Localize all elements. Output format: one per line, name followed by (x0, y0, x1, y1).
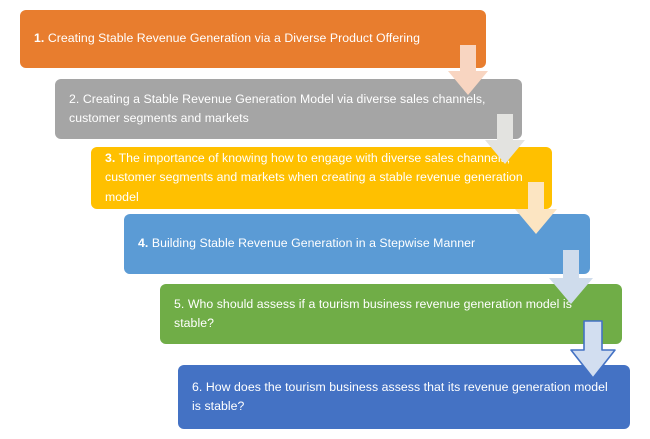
step-box-6[interactable]: 6. How does the tourism business assess … (178, 365, 630, 429)
step-box-6-label: How does the tourism business assess tha… (192, 380, 608, 413)
step-box-4-number: 4. (138, 236, 148, 250)
arrow-step3-to-step4-icon (515, 182, 557, 237)
arrow-step2-to-step3-icon (485, 114, 525, 167)
step-box-5-number: 5. (174, 297, 184, 311)
step-box-1-number: 1. (34, 31, 44, 45)
step-box-2-label: Creating a Stable Revenue Generation Mod… (69, 92, 486, 125)
diagram-canvas: 1. Creating Stable Revenue Generation vi… (0, 0, 650, 439)
step-box-6-number: 6. (192, 380, 202, 394)
step-box-1[interactable]: 1. Creating Stable Revenue Generation vi… (20, 10, 486, 68)
step-box-4-text: 4. Building Stable Revenue Generation in… (124, 234, 590, 253)
step-box-4-label: Building Stable Revenue Generation in a … (148, 236, 475, 250)
arrow-step1-to-step2-icon (448, 45, 488, 98)
arrow-step4-to-step5-icon (549, 250, 593, 307)
step-box-1-text: 1. Creating Stable Revenue Generation vi… (20, 29, 486, 48)
step-box-2-number: 2. (69, 92, 79, 106)
step-box-3[interactable]: 3. The importance of knowing how to enga… (91, 147, 552, 209)
step-box-6-text: 6. How does the tourism business assess … (178, 378, 630, 416)
step-box-3-text: 3. The importance of knowing how to enga… (91, 149, 552, 206)
step-box-3-number: 3. (105, 151, 115, 165)
step-box-5-label: Who should assess if a tourism business … (174, 297, 572, 330)
step-box-1-label: Creating Stable Revenue Generation via a… (44, 31, 420, 45)
arrow-step5-to-step6-icon (569, 320, 617, 382)
step-box-3-label: The importance of knowing how to engage … (105, 151, 523, 203)
